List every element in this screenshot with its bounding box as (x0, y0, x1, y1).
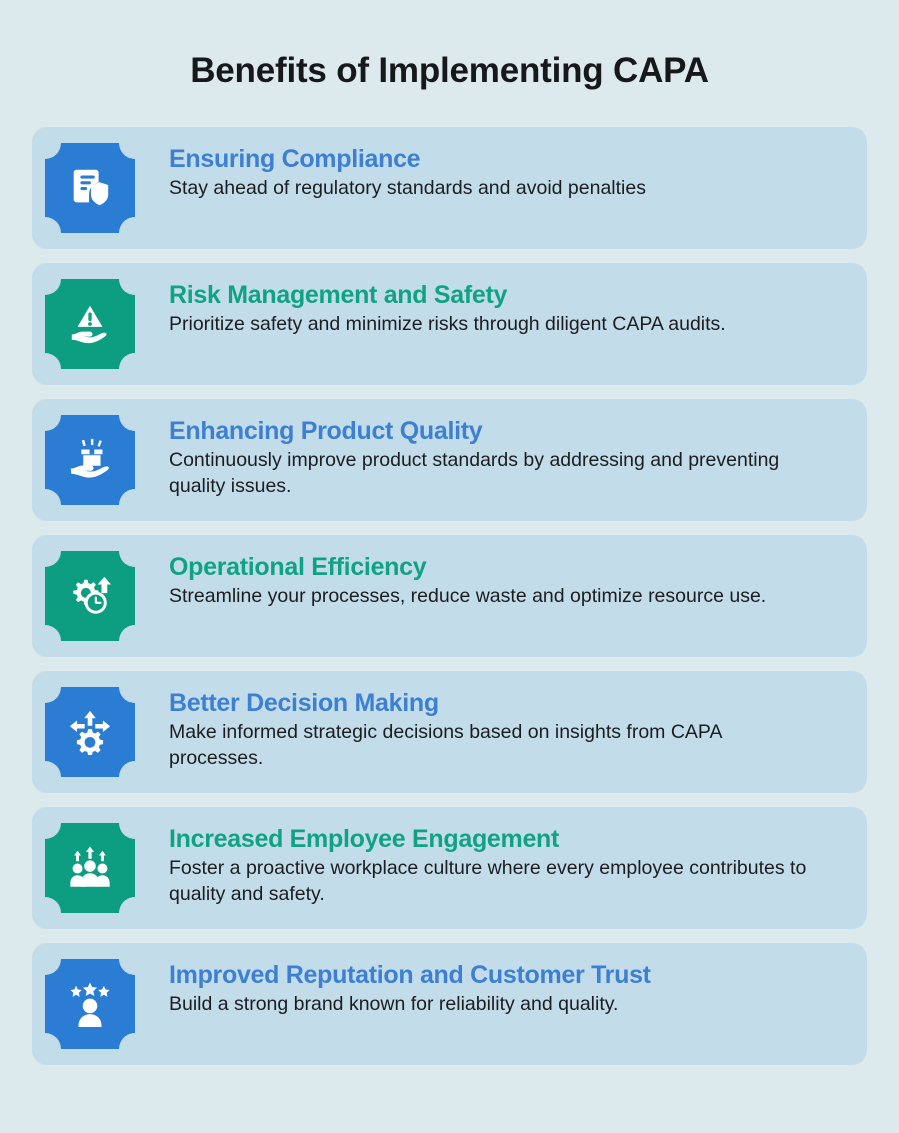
person-three-stars-icon (67, 981, 113, 1027)
benefit-description: Foster a proactive workplace culture whe… (169, 856, 809, 908)
gear-three-arrows-icon (67, 709, 113, 755)
hand-holding-box-icon (67, 437, 113, 483)
benefit-text: Enhancing Product Quality Continuously i… (135, 415, 849, 500)
gear-clock-arrow-icon (67, 573, 113, 619)
benefit-card: Better Decision Making Make informed str… (32, 671, 867, 793)
benefit-card: Increased Employee Engagement Foster a p… (32, 807, 867, 929)
benefit-text: Risk Management and Safety Prioritize sa… (135, 279, 849, 338)
benefit-card: Ensuring Compliance Stay ahead of regula… (32, 127, 867, 249)
benefit-icon-badge (45, 143, 135, 233)
benefit-heading: Enhancing Product Quality (169, 417, 849, 447)
benefit-heading: Operational Efficiency (169, 553, 849, 583)
benefit-card: Risk Management and Safety Prioritize sa… (32, 263, 867, 385)
benefit-description: Build a strong brand known for reliabili… (169, 992, 809, 1018)
document-shield-icon (67, 165, 113, 211)
benefit-text: Operational Efficiency Streamline your p… (135, 551, 849, 610)
benefit-icon-badge (45, 415, 135, 505)
benefit-heading: Risk Management and Safety (169, 281, 849, 311)
benefit-heading: Better Decision Making (169, 689, 849, 719)
benefit-text: Ensuring Compliance Stay ahead of regula… (135, 143, 849, 202)
benefit-icon-badge (45, 551, 135, 641)
benefit-list: Ensuring Compliance Stay ahead of regula… (0, 127, 899, 1065)
benefit-heading: Increased Employee Engagement (169, 825, 849, 855)
page-title: Benefits of Implementing CAPA (0, 0, 899, 91)
benefit-description: Prioritize safety and minimize risks thr… (169, 312, 809, 338)
benefit-card: Enhancing Product Quality Continuously i… (32, 399, 867, 521)
benefit-card: Operational Efficiency Streamline your p… (32, 535, 867, 657)
benefit-text: Better Decision Making Make informed str… (135, 687, 849, 772)
benefit-description: Make informed strategic decisions based … (169, 720, 809, 772)
warning-triangle-hand-icon (67, 301, 113, 347)
benefit-heading: Ensuring Compliance (169, 145, 849, 175)
benefit-description: Streamline your processes, reduce waste … (169, 584, 809, 610)
benefit-icon-badge (45, 823, 135, 913)
benefit-description: Continuously improve product standards b… (169, 448, 809, 500)
people-group-arrows-icon (67, 845, 113, 891)
infographic-page: Benefits of Implementing CAPA Ensuring C… (0, 0, 899, 1133)
benefit-icon-badge (45, 687, 135, 777)
benefit-text: Increased Employee Engagement Foster a p… (135, 823, 849, 908)
benefit-icon-badge (45, 959, 135, 1049)
benefit-card: Improved Reputation and Customer Trust B… (32, 943, 867, 1065)
benefit-icon-badge (45, 279, 135, 369)
benefit-description: Stay ahead of regulatory standards and a… (169, 176, 809, 202)
benefit-heading: Improved Reputation and Customer Trust (169, 961, 849, 991)
benefit-text: Improved Reputation and Customer Trust B… (135, 959, 849, 1018)
